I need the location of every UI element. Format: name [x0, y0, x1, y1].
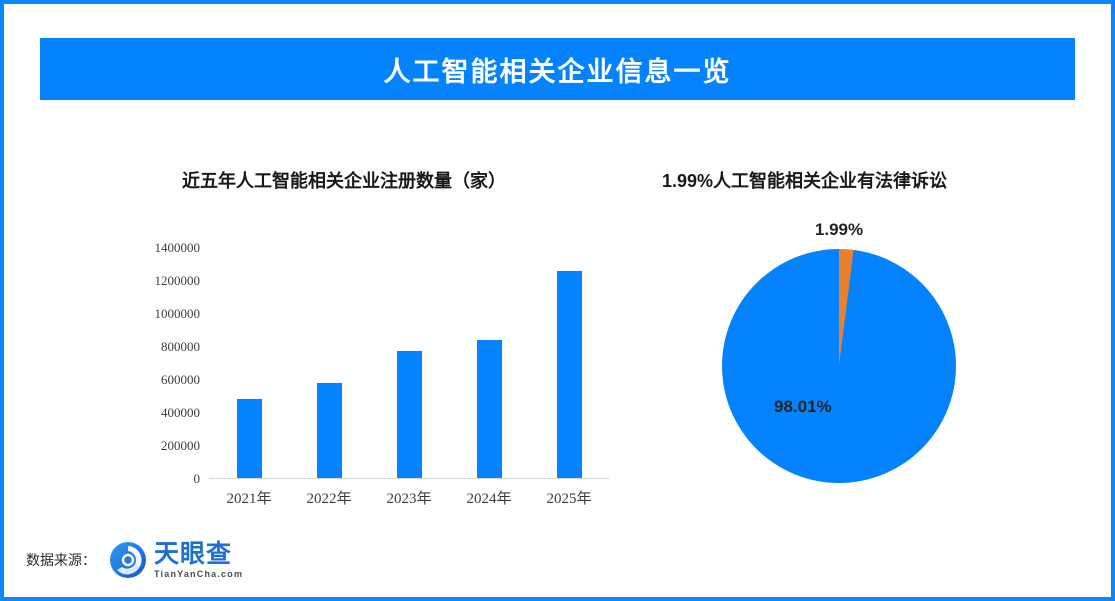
y-tick-label: 1400000 [155, 240, 201, 256]
bar-plot-area [209, 232, 609, 479]
y-tick-label: 200000 [161, 438, 200, 454]
bar-slot [290, 232, 368, 478]
title-banner: 人工智能相关企业信息一览 [40, 38, 1075, 100]
footer: 数据来源： 天眼查 TianYanCha.com [26, 540, 243, 580]
x-tick-label: 2025年 [530, 487, 608, 508]
bar-chart: 1400000 1200000 1000000 800000 600000 40… [124, 232, 614, 522]
tianyancha-logo: 天眼查 TianYanCha.com [108, 540, 243, 580]
pie-slice-label-major: 98.01% [774, 397, 832, 417]
bar-2022 [317, 383, 342, 478]
bar-slot [450, 232, 528, 478]
pie-graphic [722, 249, 956, 483]
bar-2023 [397, 351, 422, 478]
pie-chart-title: 1.99%人工智能相关企业有法律诉讼 [662, 167, 947, 193]
x-tick-label: 2021年 [210, 487, 288, 508]
x-axis-labels: 2021年 2022年 2023年 2024年 2025年 [209, 487, 609, 508]
bar-2025 [557, 271, 582, 478]
logo-name-en: TianYanCha.com [154, 570, 243, 579]
data-source-label: 数据来源： [26, 550, 96, 570]
page-title: 人工智能相关企业信息一览 [384, 50, 732, 89]
x-tick-label: 2022年 [290, 487, 368, 508]
y-tick-label: 600000 [161, 372, 200, 388]
bar-series [209, 232, 609, 478]
y-tick-label: 800000 [161, 339, 200, 355]
bar-slot [370, 232, 448, 478]
logo-text: 天眼查 TianYanCha.com [154, 542, 243, 579]
y-tick-label: 0 [194, 471, 201, 487]
aperture-icon [108, 540, 148, 580]
infographic-page: 人工智能相关企业信息一览 近五年人工智能相关企业注册数量（家） 1400000 … [0, 0, 1115, 601]
bar-slot [530, 232, 608, 478]
x-tick-label: 2024年 [450, 487, 528, 508]
pie-chart: 98.01% [722, 249, 956, 483]
y-axis-ticks: 1400000 1200000 1000000 800000 600000 40… [124, 232, 200, 479]
y-tick-label: 1200000 [155, 273, 201, 289]
x-tick-label: 2023年 [370, 487, 448, 508]
bar-2024 [477, 340, 502, 478]
bar-slot [210, 232, 288, 478]
y-tick-label: 1000000 [155, 306, 201, 322]
x-axis-line [209, 478, 609, 479]
bar-chart-title: 近五年人工智能相关企业注册数量（家） [182, 167, 506, 193]
logo-name-cn: 天眼查 [154, 542, 243, 567]
pie-slice-label-minor: 1.99% [722, 220, 956, 240]
y-tick-label: 400000 [161, 405, 200, 421]
bar-2021 [237, 399, 262, 478]
